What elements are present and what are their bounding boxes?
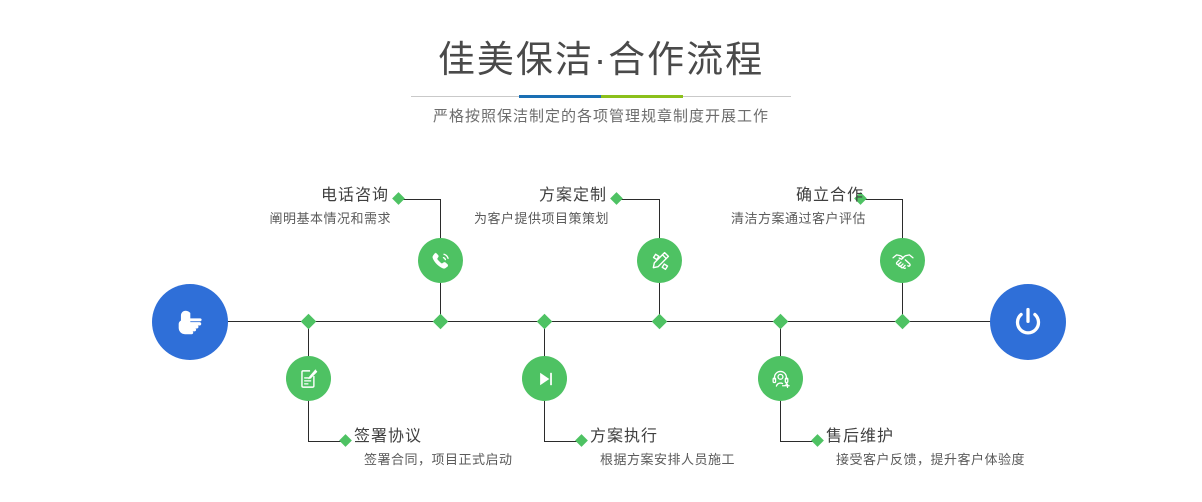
label-marker-6	[811, 434, 824, 447]
document-edit-icon	[296, 366, 322, 392]
label-marker-4	[575, 434, 588, 447]
title-divider	[411, 95, 791, 98]
timeline-marker-4	[537, 314, 553, 330]
step-node-2[interactable]	[286, 356, 331, 401]
connector-horizontal-3	[618, 199, 660, 200]
step-node-5[interactable]	[880, 238, 925, 283]
page-subtitle: 严格按照保洁制定的各项管理规章制度开展工作	[0, 106, 1202, 128]
pencil-design-icon	[647, 248, 673, 274]
process-flow-infographic: 佳美保洁·合作流程 严格按照保洁制定的各项管理规章制度开展工作	[0, 0, 1202, 502]
step-label-2: 签署协议 签署合同，项目正式启动	[354, 427, 513, 469]
step-title-1: 电话咨询	[269, 186, 391, 206]
timeline-marker-1	[433, 314, 449, 330]
step-desc-4: 根据方案安排人员施工	[600, 450, 735, 469]
connector-horizontal-1	[400, 199, 441, 200]
step-label-5: 确立合作 清洁方案通过客户评估	[731, 186, 866, 228]
label-marker-3	[610, 192, 623, 205]
timeline-start-node	[152, 284, 228, 360]
timeline-end-node	[990, 284, 1066, 360]
step-title-2: 签署协议	[354, 427, 513, 447]
divider-green-segment	[601, 95, 683, 98]
step-title-5: 确立合作	[731, 186, 866, 206]
divider-blue-segment	[519, 95, 601, 98]
step-node-3[interactable]	[637, 238, 682, 283]
label-marker-1	[392, 192, 405, 205]
step-node-6[interactable]	[758, 356, 803, 401]
step-desc-5: 清洁方案通过客户评估	[731, 209, 866, 228]
step-label-6: 售后维护 接受客户反馈，提升客户体验度	[826, 427, 1025, 469]
step-title-3: 方案定制	[474, 186, 609, 206]
play-execute-icon	[532, 366, 558, 392]
pointing-hand-icon	[170, 302, 210, 342]
step-desc-3: 为客户提供项目策策划	[474, 209, 609, 228]
timeline-marker-6	[773, 314, 789, 330]
step-title-6: 售后维护	[826, 427, 1025, 447]
step-title-4: 方案执行	[590, 427, 735, 447]
customer-service-add-icon	[768, 366, 794, 392]
step-desc-2: 签署合同，项目正式启动	[364, 450, 513, 469]
step-node-1[interactable]	[418, 238, 463, 283]
step-label-4: 方案执行 根据方案安排人员施工	[590, 427, 735, 469]
step-label-3: 方案定制 为客户提供项目策策划	[474, 186, 609, 228]
step-label-1: 电话咨询 阐明基本情况和需求	[269, 186, 391, 228]
step-node-4[interactable]	[522, 356, 567, 401]
page-title: 佳美保洁·合作流程	[0, 38, 1202, 82]
power-icon	[1007, 301, 1049, 343]
connector-horizontal-5	[862, 199, 903, 200]
timeline-marker-5	[895, 314, 911, 330]
timeline-marker-2	[301, 314, 317, 330]
step-desc-6: 接受客户反馈，提升客户体验度	[836, 450, 1025, 469]
handshake-icon	[889, 247, 917, 275]
label-marker-2	[339, 434, 352, 447]
step-desc-1: 阐明基本情况和需求	[269, 209, 391, 228]
timeline-marker-3	[652, 314, 668, 330]
phone-call-icon	[428, 248, 454, 274]
